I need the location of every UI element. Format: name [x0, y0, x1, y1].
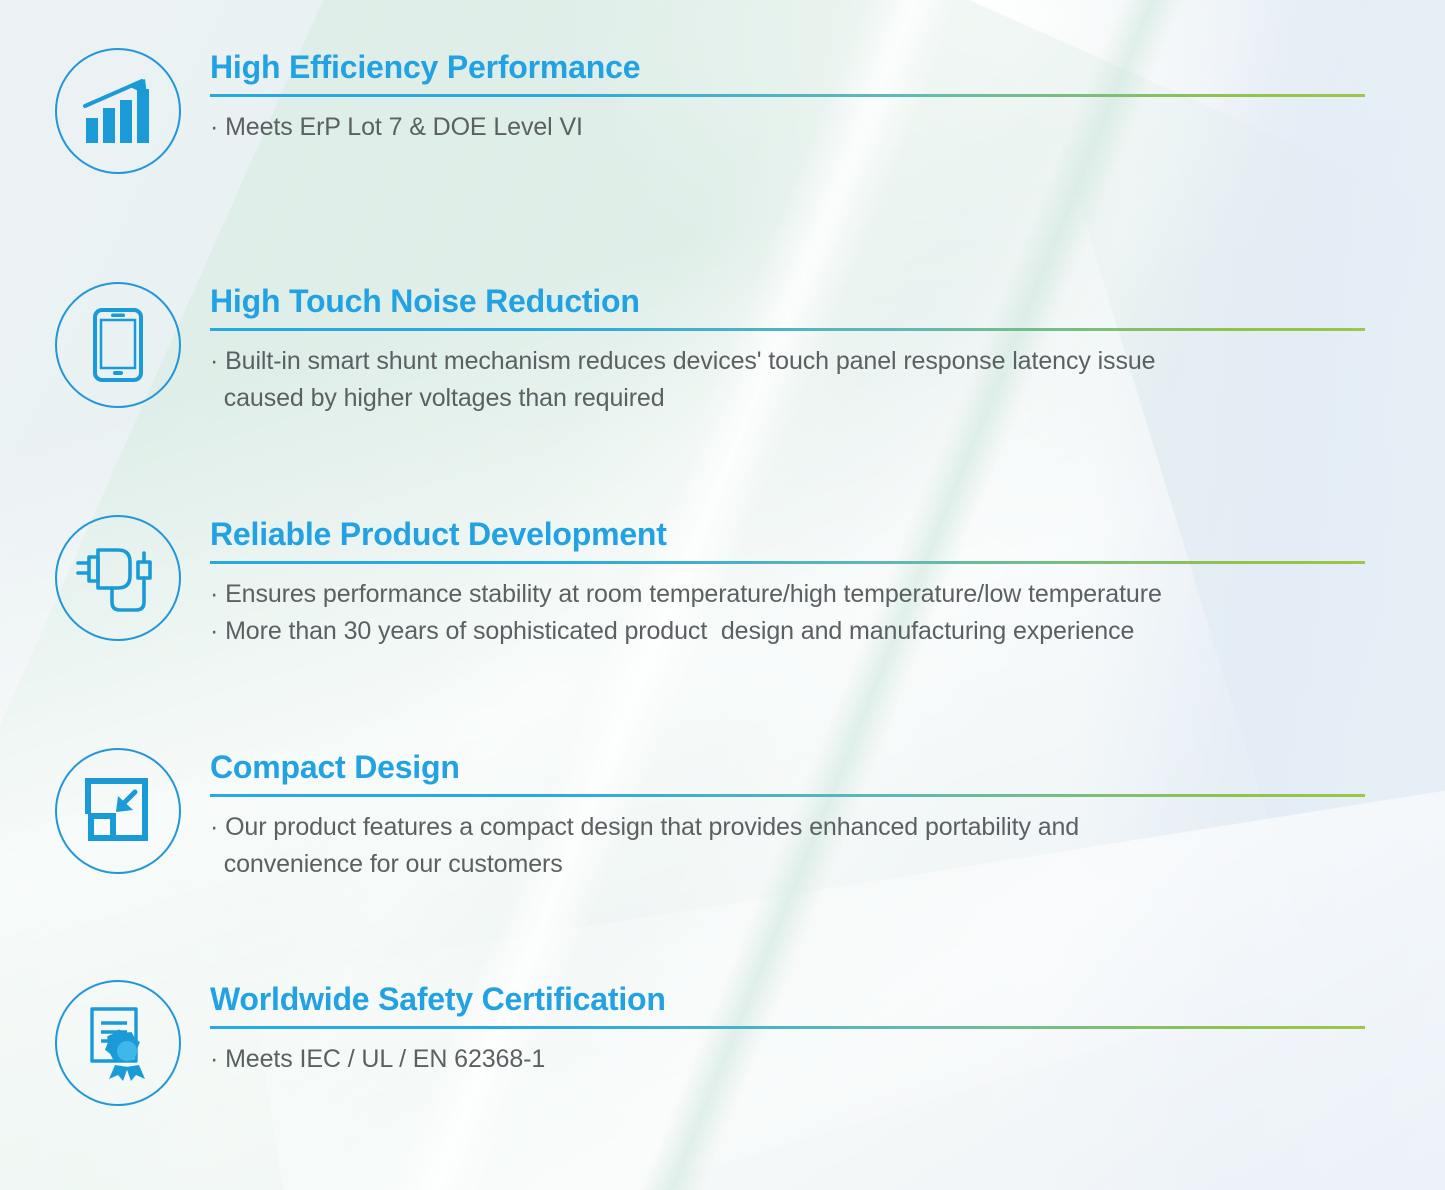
growth-chart-icon [55, 48, 181, 174]
feature-lines: · Our product features a compact design … [210, 809, 1445, 883]
feature-line: · Our product features a compact design … [210, 809, 1445, 883]
feature-list: High Efficiency Performance · Meets ErP … [0, 0, 1445, 1190]
power-adapter-icon [55, 515, 181, 641]
feature-divider [210, 1026, 1365, 1029]
feature-line: · More than 30 years of sophisticated pr… [210, 613, 1445, 650]
feature-divider [210, 561, 1365, 564]
feature-title: Worldwide Safety Certification [210, 980, 1445, 1018]
feature-line: · Meets IEC / UL / EN 62368-1 [210, 1041, 1445, 1078]
feature-title: Reliable Product Development [210, 515, 1445, 553]
smartphone-icon [55, 282, 181, 408]
feature-lines: · Meets IEC / UL / EN 62368-1 [210, 1041, 1445, 1078]
feature-body: Compact Design · Our product features a … [210, 748, 1445, 883]
feature-lines: · Meets ErP Lot 7 & DOE Level VI [210, 109, 1445, 146]
certificate-award-icon [55, 980, 181, 1106]
feature-body: High Efficiency Performance · Meets ErP … [210, 48, 1445, 146]
feature-line: · Meets ErP Lot 7 & DOE Level VI [210, 109, 1445, 146]
compact-resize-icon [55, 748, 181, 874]
feature-divider [210, 794, 1365, 797]
feature-lines: · Built-in smart shunt mechanism reduces… [210, 343, 1445, 417]
feature-body: Reliable Product Development · Ensures p… [210, 515, 1445, 650]
feature-divider [210, 94, 1365, 97]
feature-line: · Ensures performance stability at room … [210, 576, 1445, 613]
feature-lines: · Ensures performance stability at room … [210, 576, 1445, 650]
feature-title: High Efficiency Performance [210, 48, 1445, 86]
feature-line: · Built-in smart shunt mechanism reduces… [210, 343, 1445, 417]
feature-title: High Touch Noise Reduction [210, 282, 1445, 320]
feature-divider [210, 328, 1365, 331]
feature-body: High Touch Noise Reduction · Built-in sm… [210, 282, 1445, 417]
feature-body: Worldwide Safety Certification · Meets I… [210, 980, 1445, 1078]
feature-highlights-page: High Efficiency Performance · Meets ErP … [0, 0, 1445, 1190]
feature-title: Compact Design [210, 748, 1445, 786]
